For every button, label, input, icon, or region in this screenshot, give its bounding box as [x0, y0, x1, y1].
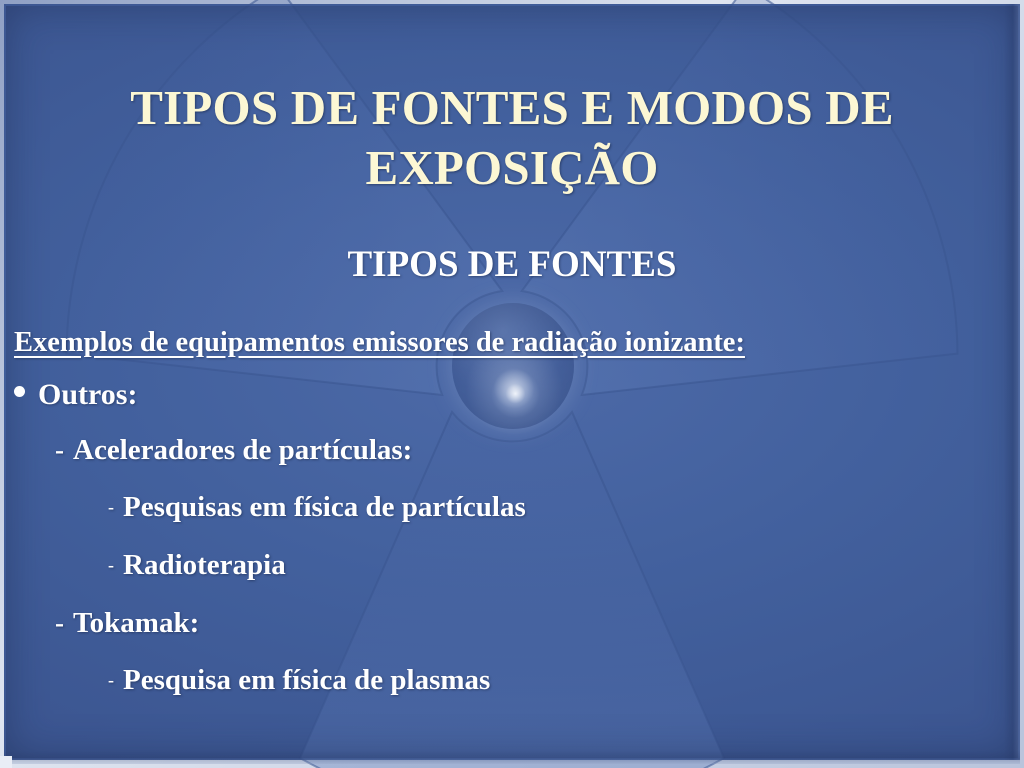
- list-item: - Radioterapia: [0, 549, 1024, 607]
- list-item-label: Radioterapia: [123, 549, 286, 582]
- bullet-list: Outros: - Aceleradores de partículas: - …: [0, 378, 1024, 722]
- bullet-dash-icon: -: [55, 435, 64, 466]
- list-item: - Pesquisa em física de plasmas: [0, 664, 1024, 722]
- slide-subtitle: TIPOS DE FONTES: [12, 243, 1012, 286]
- list-item: - Tokamak:: [0, 607, 1024, 664]
- slide-title: TIPOS DE FONTES E MODOS DE EXPOSIÇÃO: [12, 78, 1012, 199]
- list-item: - Aceleradores de partículas:: [0, 434, 1024, 491]
- bullet-dot-icon: [14, 386, 25, 397]
- bullet-dash-icon: -: [108, 497, 114, 518]
- list-item-label: Outros:: [38, 378, 137, 412]
- list-item: - Pesquisas em física de partículas: [0, 491, 1024, 549]
- bullet-dash-icon: -: [55, 608, 64, 639]
- list-item-label: Pesquisas em física de partículas: [123, 491, 526, 524]
- slide-lead-text: Exemplos de equipamentos emissores de ra…: [14, 327, 1014, 359]
- list-item: Outros:: [0, 378, 1024, 434]
- bullet-dash-icon: -: [108, 670, 114, 691]
- list-item-label: Tokamak:: [73, 607, 199, 640]
- slide-content: TIPOS DE FONTES E MODOS DE EXPOSIÇÃO TIP…: [0, 0, 1024, 768]
- presentation-slide: TIPOS DE FONTES E MODOS DE EXPOSIÇÃO TIP…: [0, 0, 1024, 768]
- list-item-label: Aceleradores de partículas:: [73, 434, 412, 467]
- bullet-dash-icon: -: [108, 555, 114, 576]
- list-item-label: Pesquisa em física de plasmas: [123, 664, 490, 697]
